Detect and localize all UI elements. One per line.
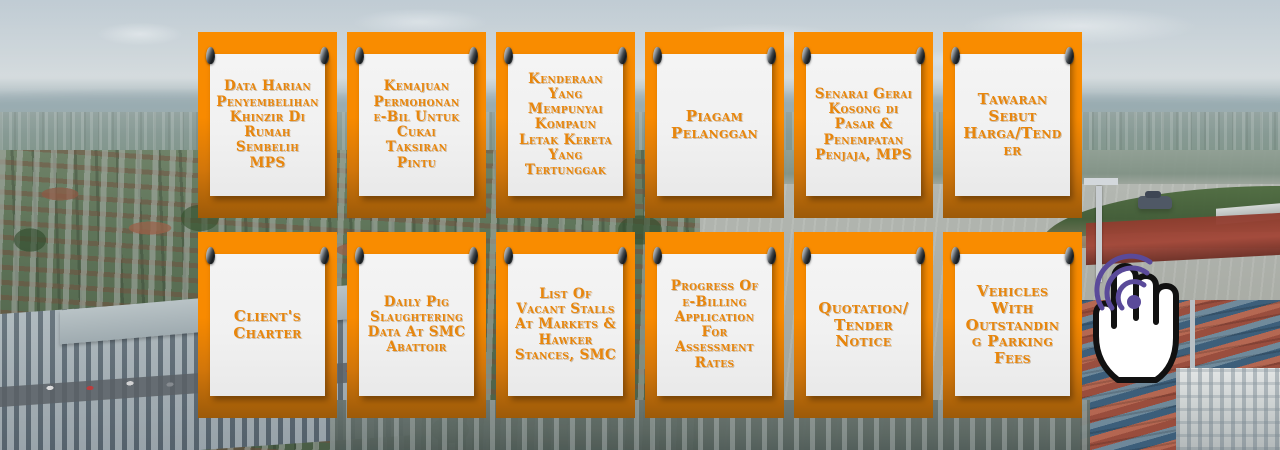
card-paper: Daily Pig Slaughtering Data At SMC Abatt…	[359, 254, 474, 396]
card-title: Quotation/ Tender Notice	[812, 300, 915, 351]
card-paper: Client's Charter	[210, 254, 325, 396]
card-paper: Piagam Pelanggan	[657, 54, 772, 196]
service-card[interactable]: List Of Vacant Stalls At Markets & Hawke…	[496, 232, 635, 418]
pin-icon	[1065, 47, 1074, 64]
pin-icon	[802, 47, 811, 64]
service-card[interactable]: Quotation/ Tender Notice	[794, 232, 933, 418]
pin-icon	[206, 247, 215, 264]
pin-icon	[951, 47, 960, 64]
card-title: Piagam Pelanggan	[663, 108, 766, 142]
pin-icon	[469, 247, 478, 264]
pin-icon	[504, 47, 513, 64]
card-title: Tawaran Sebut Harga/Tender	[961, 91, 1064, 159]
pin-icon	[355, 47, 364, 64]
service-card-grid: Data Harian Penyembelihan Khinzir Di Rum…	[198, 32, 1082, 418]
service-card[interactable]: Kemajuan Permohonan e-Bil Untuk Cukai Ta…	[347, 32, 486, 218]
service-card[interactable]: Piagam Pelanggan	[645, 32, 784, 218]
card-title: List Of Vacant Stalls At Markets & Hawke…	[514, 287, 617, 363]
card-paper: Kemajuan Permohonan e-Bil Untuk Cukai Ta…	[359, 54, 474, 196]
card-paper: Tawaran Sebut Harga/Tender	[955, 54, 1070, 196]
pin-icon	[653, 47, 662, 64]
pin-icon	[767, 47, 776, 64]
pin-icon	[206, 47, 215, 64]
pin-icon	[653, 247, 662, 264]
card-title: Client's Charter	[216, 308, 319, 342]
card-title: Senarai Gerai Kosong di Pasar & Penempat…	[812, 87, 915, 163]
card-paper: Senarai Gerai Kosong di Pasar & Penempat…	[806, 54, 921, 196]
pin-icon	[951, 247, 960, 264]
card-paper: Quotation/ Tender Notice	[806, 254, 921, 396]
service-card[interactable]: Senarai Gerai Kosong di Pasar & Penempat…	[794, 32, 933, 218]
pin-icon	[504, 247, 513, 264]
card-paper: Progress Of e-Billing Application For As…	[657, 254, 772, 396]
card-title: Vehicles With Outstanding Parking Fees	[961, 283, 1064, 368]
card-title: Progress Of e-Billing Application For As…	[663, 279, 766, 371]
pin-icon	[320, 247, 329, 264]
service-card[interactable]: Daily Pig Slaughtering Data At SMC Abatt…	[347, 232, 486, 418]
service-card[interactable]: Data Harian Penyembelihan Khinzir Di Rum…	[198, 32, 337, 218]
pin-icon	[618, 247, 627, 264]
pin-icon	[469, 47, 478, 64]
card-row: Data Harian Penyembelihan Khinzir Di Rum…	[198, 32, 1082, 218]
service-card[interactable]: Tawaran Sebut Harga/Tender	[943, 32, 1082, 218]
service-card[interactable]: Progress Of e-Billing Application For As…	[645, 232, 784, 418]
pin-icon	[916, 247, 925, 264]
card-title: Kenderaan Yang Mempunyai Kompaun Letak K…	[514, 72, 617, 179]
pin-icon	[320, 47, 329, 64]
card-title: Kemajuan Permohonan e-Bil Untuk Cukai Ta…	[365, 79, 468, 171]
service-card[interactable]: Client's Charter	[198, 232, 337, 418]
card-paper: Vehicles With Outstanding Parking Fees	[955, 254, 1070, 396]
pin-icon	[618, 47, 627, 64]
pin-icon	[916, 47, 925, 64]
service-card[interactable]: Kenderaan Yang Mempunyai Kompaun Letak K…	[496, 32, 635, 218]
card-paper: Kenderaan Yang Mempunyai Kompaun Letak K…	[508, 54, 623, 196]
card-row: Client's Charter Daily Pig Slaughtering …	[198, 232, 1082, 418]
card-title: Data Harian Penyembelihan Khinzir Di Rum…	[216, 79, 319, 171]
card-paper: List Of Vacant Stalls At Markets & Hawke…	[508, 254, 623, 396]
card-paper: Data Harian Penyembelihan Khinzir Di Rum…	[210, 54, 325, 196]
pin-icon	[767, 247, 776, 264]
pin-icon	[355, 247, 364, 264]
service-card[interactable]: Vehicles With Outstanding Parking Fees	[943, 232, 1082, 418]
pin-icon	[1065, 247, 1074, 264]
card-title: Daily Pig Slaughtering Data At SMC Abatt…	[365, 295, 468, 356]
pin-icon	[802, 247, 811, 264]
